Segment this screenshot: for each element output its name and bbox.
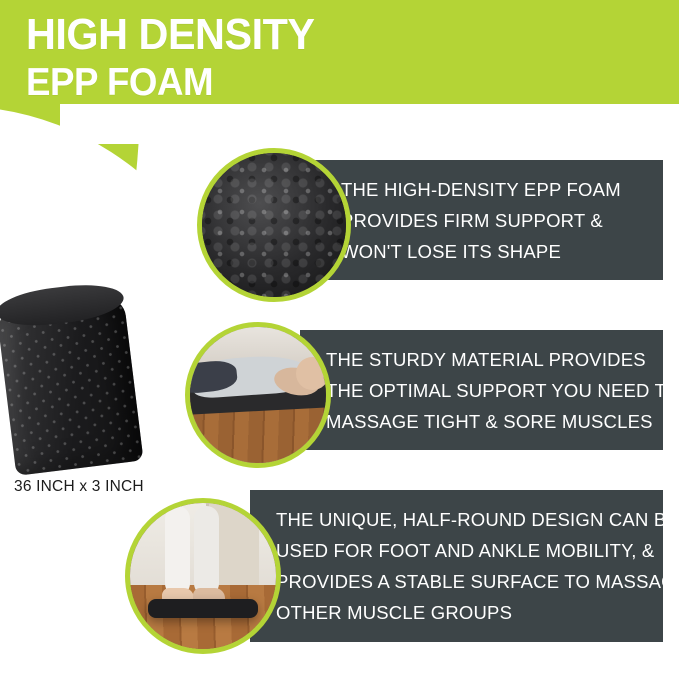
feature-3-image-feet-on-half-round-roller <box>125 498 281 654</box>
feature-1-panel: THE HIGH-DENSITY EPP FOAM PROVIDES FIRM … <box>315 160 663 280</box>
foam-cells-layer-2 <box>197 148 351 302</box>
feature-2-line-1: THE STURDY MATERIAL PROVIDES <box>326 344 649 375</box>
feature-3-panel: THE UNIQUE, HALF-ROUND DESIGN CAN BE USE… <box>250 490 663 642</box>
feature-3-line-4: OTHER MUSCLE GROUPS <box>276 597 653 628</box>
feature-1-image-foam-texture-closeup <box>197 148 351 302</box>
foam-macro-photo <box>202 153 346 297</box>
page-title-line1: HIGH DENSITY <box>26 10 315 59</box>
feature-2-line-3: MASSAGE TIGHT & SORE MUSCLES <box>326 406 649 437</box>
white-band-decoration <box>60 104 679 144</box>
product-image <box>16 288 156 480</box>
feature-1-line-1: THE HIGH-DENSITY EPP FOAM <box>341 174 647 205</box>
scene3-left-leg <box>165 506 190 597</box>
brand-logo-icon <box>68 417 119 451</box>
feature-1-line-3: WON'T LOSE ITS SHAPE <box>341 236 647 267</box>
scene3-right-leg <box>194 506 219 597</box>
product-infographic: HIGH DENSITY EPP FOAM 36 INCH x 3 INCH T… <box>0 0 679 679</box>
scene3-foam-roller <box>148 599 259 618</box>
feature-2-line-2: THE OPTIMAL SUPPORT YOU NEED TO <box>326 375 649 406</box>
person-on-mat-photo <box>190 327 326 463</box>
feature-3-line-2: USED FOR FOOT AND ANKLE MOBILITY, & <box>276 535 653 566</box>
feature-1-line-2: PROVIDES FIRM SUPPORT & <box>341 205 647 236</box>
feature-2-panel: THE STURDY MATERIAL PROVIDES THE OPTIMAL… <box>300 330 663 450</box>
scene2-person-head <box>296 357 329 390</box>
feature-2-image-person-lying-on-roller <box>185 322 331 468</box>
feature-3-line-1: THE UNIQUE, HALF-ROUND DESIGN CAN BE <box>276 504 653 535</box>
page-title: HIGH DENSITY EPP FOAM <box>26 14 315 104</box>
product-dimensions-caption: 36 INCH x 3 INCH <box>14 478 144 496</box>
feet-on-roller-photo <box>130 503 276 649</box>
feature-3-line-3: PROVIDES A STABLE SURFACE TO MASSAGE <box>276 566 653 597</box>
